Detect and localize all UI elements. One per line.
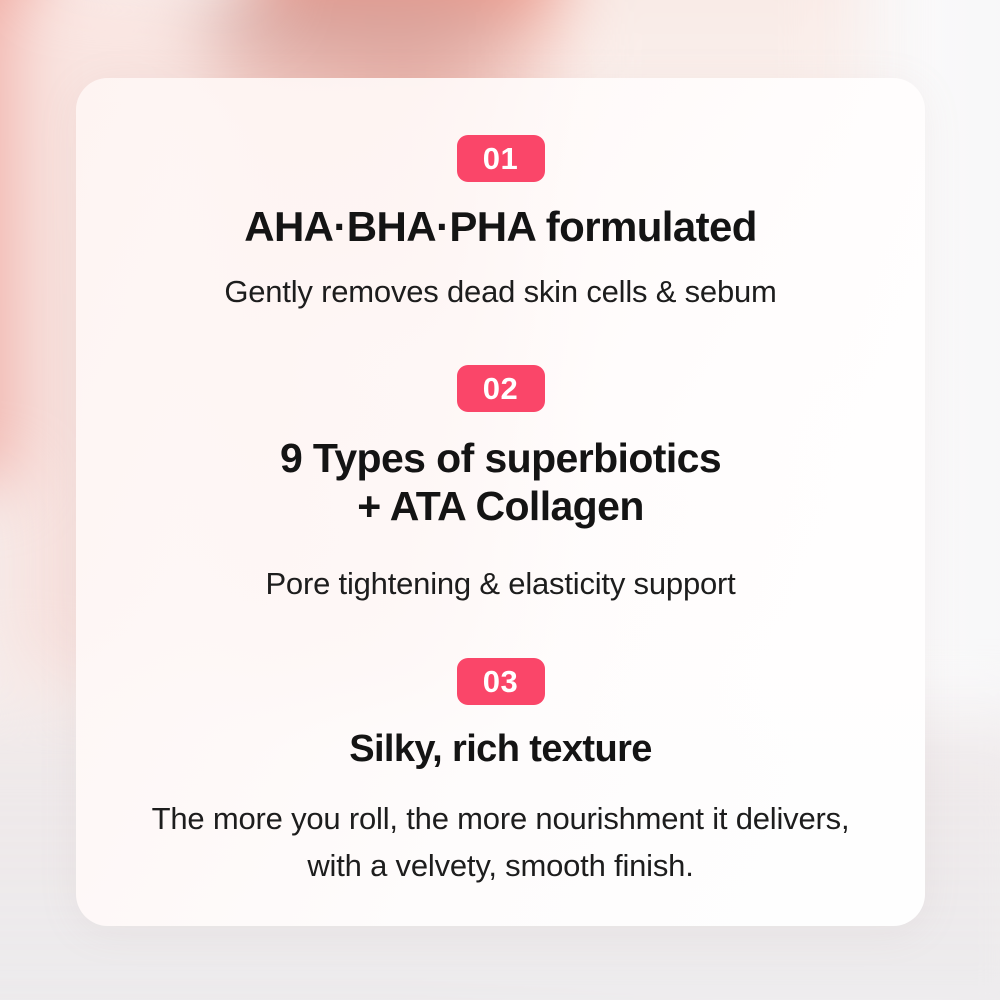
feature-heading-03: Silky, rich texture [349,727,652,772]
step-badge-03: 03 [457,658,545,705]
feature-heading-01: AHA·BHA·PHA formulated [244,202,757,252]
feature-subtitle-03: The more you roll, the more nourishment … [152,795,850,889]
step-badge-02: 02 [457,365,545,412]
feature-heading-02-line-2: + ATA Collagen [280,482,721,530]
feature-heading-02: 9 Types of superbiotics + ATA Collagen [280,434,721,531]
feature-heading-01-line-1: AHA·BHA·PHA formulated [244,202,757,252]
feature-subtitle-02: Pore tightening & elasticity support [265,560,735,607]
feature-section-03: 03 Silky, rich texture The more you roll… [76,658,925,890]
feature-section-02: 02 9 Types of superbiotics + ATA Collage… [76,365,925,608]
step-badge-01: 01 [457,135,545,182]
feature-subtitle-01: Gently removes dead skin cells & sebum [224,268,776,315]
feature-subtitle-02-line-1: Pore tightening & elasticity support [265,560,735,607]
feature-card: 01 AHA·BHA·PHA formulated Gently removes… [76,78,925,926]
feature-heading-02-line-1: 9 Types of superbiotics [280,434,721,482]
feature-subtitle-01-line-1: Gently removes dead skin cells & sebum [224,268,776,315]
feature-subtitle-03-line-2: with a velvety, smooth finish. [152,842,850,889]
promo-image-stage: 01 AHA·BHA·PHA formulated Gently removes… [0,0,1000,1000]
feature-section-01: 01 AHA·BHA·PHA formulated Gently removes… [76,135,925,315]
feature-subtitle-03-line-1: The more you roll, the more nourishment … [152,795,850,842]
feature-heading-03-line-1: Silky, rich texture [349,727,652,772]
